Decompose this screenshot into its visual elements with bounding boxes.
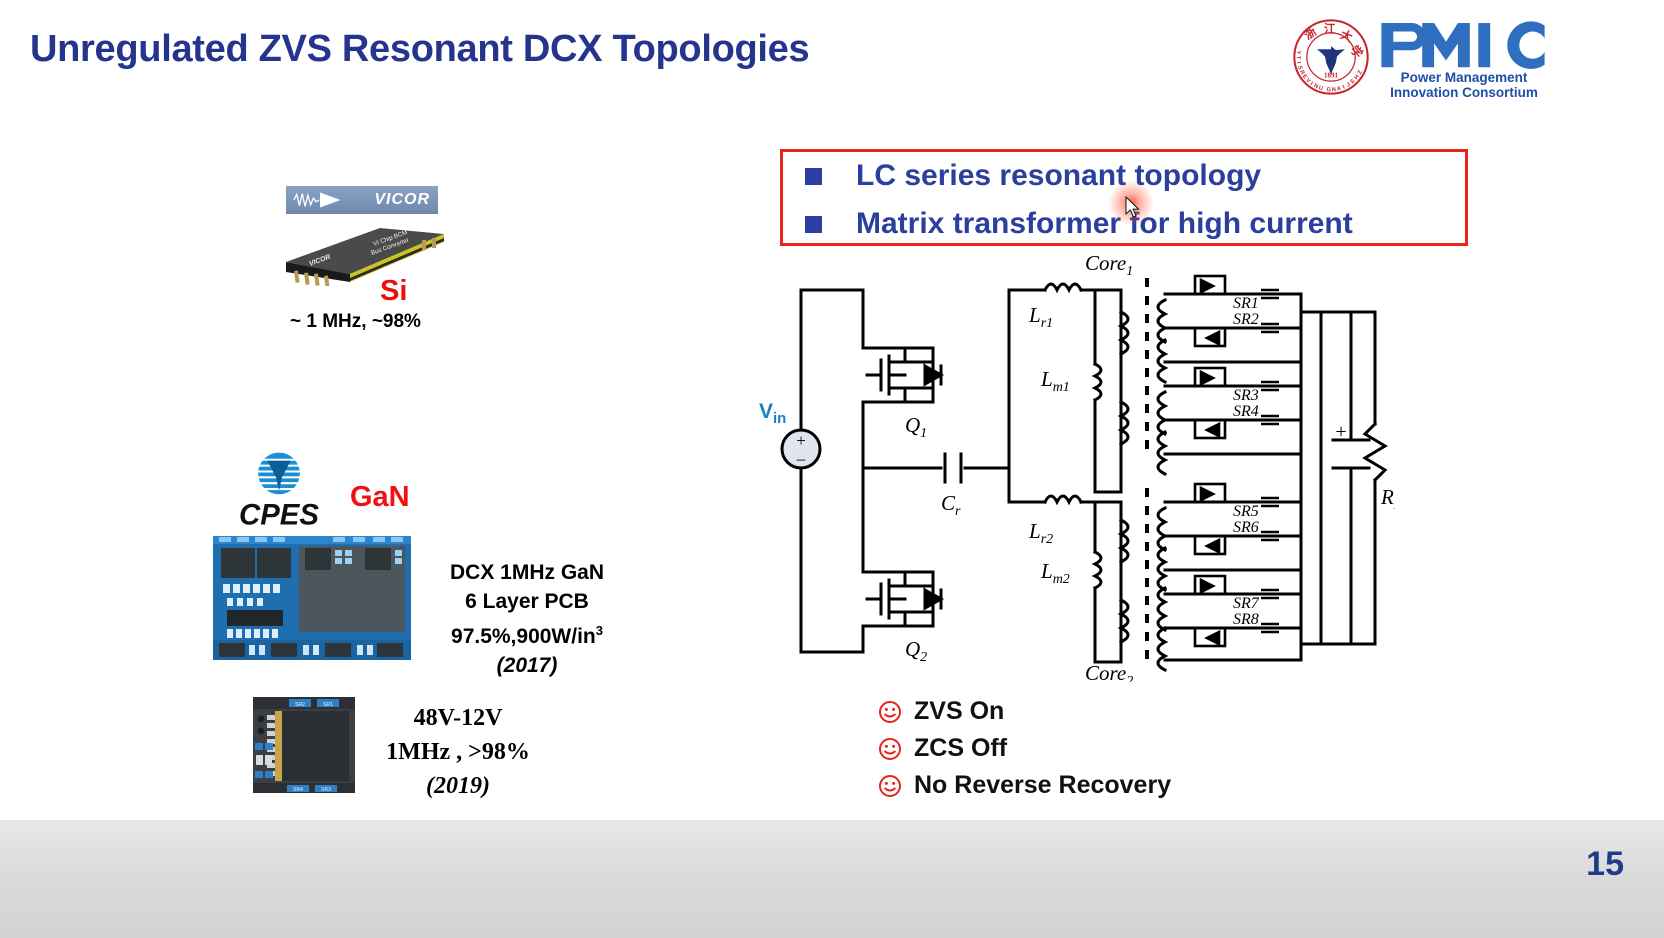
zju-year: 1891 [1324, 71, 1339, 79]
label-sr2: SR2 [1233, 311, 1259, 328]
smiley-face-icon [878, 700, 902, 724]
svg-text:Y: Y [1295, 50, 1301, 55]
svg-text:G: G [1326, 87, 1331, 93]
zhejiang-university-logo: 浙 江 大 学 1891 Z H E J I A N G U N [1292, 18, 1370, 96]
square-bullet-icon [805, 216, 822, 233]
source-minus: – [796, 449, 806, 468]
benefit-item-2-label: ZCS Off [914, 734, 1007, 763]
benefit-item-1: ZVS On [878, 694, 1171, 729]
pmic-tagline: Power Management Innovation Consortium [1378, 70, 1550, 100]
svg-text:学: 学 [1347, 43, 1365, 61]
svg-text:U: U [1318, 85, 1324, 92]
label-lm2: Lm2 [1040, 559, 1070, 587]
circuit-schematic: Lr1 Lm1 Lr2 Lm2 Cr Q1 Q2 Core1 Core2 RL … [755, 252, 1395, 682]
benefit-item-1-label: ZVS On [914, 697, 1004, 726]
smiley-face-icon [878, 774, 902, 798]
label-sr1: SR1 [1233, 295, 1259, 312]
second-board-spec-year: (2019) [368, 769, 548, 803]
gan-spec-year: (2017) [432, 651, 622, 680]
callout-item-2-label: Matrix transformer for high current [856, 207, 1353, 241]
svg-text:A: A [1336, 86, 1342, 93]
label-sr6: SR6 [1233, 519, 1259, 536]
board-label-sr4: SR4 [293, 787, 303, 793]
mouse-cursor-icon [1125, 196, 1141, 220]
pmic-tagline-line1: Power Management [1378, 70, 1550, 85]
page-number: 15 [1586, 845, 1624, 884]
smiley-face-icon [878, 737, 902, 761]
label-lm1: Lm1 [1040, 367, 1070, 395]
label-sr3: SR3 [1233, 387, 1259, 404]
board-label-sr1: SR1 [323, 702, 333, 708]
source-plus: + [796, 431, 806, 450]
vicor-brand-banner: VICOR [286, 186, 438, 214]
vicor-module-photo: VI Chip BCM Bus Converter VICOR [272, 222, 448, 286]
svg-text:I: I [1342, 84, 1346, 90]
label-sr4: SR4 [1233, 403, 1259, 420]
pmic-tagline-line2: Innovation Consortium [1378, 85, 1550, 100]
gan-spec-text: DCX 1MHz GaN 6 Layer PCB 97.5%,900W/in3 … [432, 558, 622, 680]
footer-bar [0, 820, 1664, 938]
label-sr5: SR5 [1233, 503, 1259, 520]
svg-text:T: T [1295, 56, 1301, 60]
svg-text:浙: 浙 [1301, 24, 1319, 42]
square-bullet-icon [805, 168, 822, 185]
gan-board-photo [213, 536, 411, 660]
svg-text:N: N [1332, 87, 1337, 93]
label-sr8: SR8 [1233, 611, 1259, 628]
label-rl: RL [1380, 485, 1395, 513]
gan-spec-line-3: 97.5%,900W/in3 [432, 616, 622, 651]
board-label-sr2: SR2 [295, 702, 305, 708]
benefit-item-3: No Reverse Recovery [878, 768, 1171, 803]
label-core2: Core2 [1085, 661, 1133, 682]
label-sr7: SR7 [1233, 595, 1260, 612]
board-label-sr3: SR3 [321, 787, 331, 793]
benefit-item-3-label: No Reverse Recovery [914, 771, 1171, 800]
cpes-wordmark: CPES [239, 498, 319, 531]
cpes-logo: CPES [225, 448, 333, 536]
label-q1: Q1 [905, 413, 927, 441]
label-q2: Q2 [905, 637, 927, 665]
slide-canvas: Unregulated ZVS Resonant DCX Topologies … [0, 0, 1664, 938]
svg-text:江: 江 [1324, 22, 1336, 36]
vicor-wordmark: VICOR [374, 191, 430, 209]
output-cap-plus: + [1335, 421, 1346, 443]
label-core1: Core1 [1085, 252, 1133, 279]
label-lr2: Lr2 [1028, 519, 1053, 547]
second-board-spec-line-1: 48V-12V [368, 701, 548, 735]
label-lr1: Lr1 [1028, 303, 1053, 331]
benefit-item-2: ZCS Off [878, 731, 1171, 766]
vicor-waveform-icon [292, 190, 348, 210]
label-cr: Cr [941, 491, 961, 519]
gan-device-label: GaN [350, 481, 410, 514]
si-device-label: Si [380, 275, 407, 308]
second-board-spec-line-2: 1MHz , >98% [368, 735, 548, 769]
second-board-spec-text: 48V-12V 1MHz , >98% (2019) [368, 701, 548, 803]
svg-text:大: 大 [1338, 27, 1354, 44]
benefits-list: ZVS On ZCS Off N [878, 694, 1171, 805]
callout-item-1-label: LC series resonant topology [856, 159, 1261, 193]
gan-spec-line-2: 6 Layer PCB [432, 587, 622, 616]
label-vin: Vin [759, 400, 786, 427]
second-board-photo: SR2 SR1 SR4 [253, 697, 355, 793]
gan-spec-line-1: DCX 1MHz GaN [432, 558, 622, 587]
page-title: Unregulated ZVS Resonant DCX Topologies [30, 28, 809, 71]
vicor-spec-text: ~ 1 MHz, ~98% [290, 311, 421, 333]
